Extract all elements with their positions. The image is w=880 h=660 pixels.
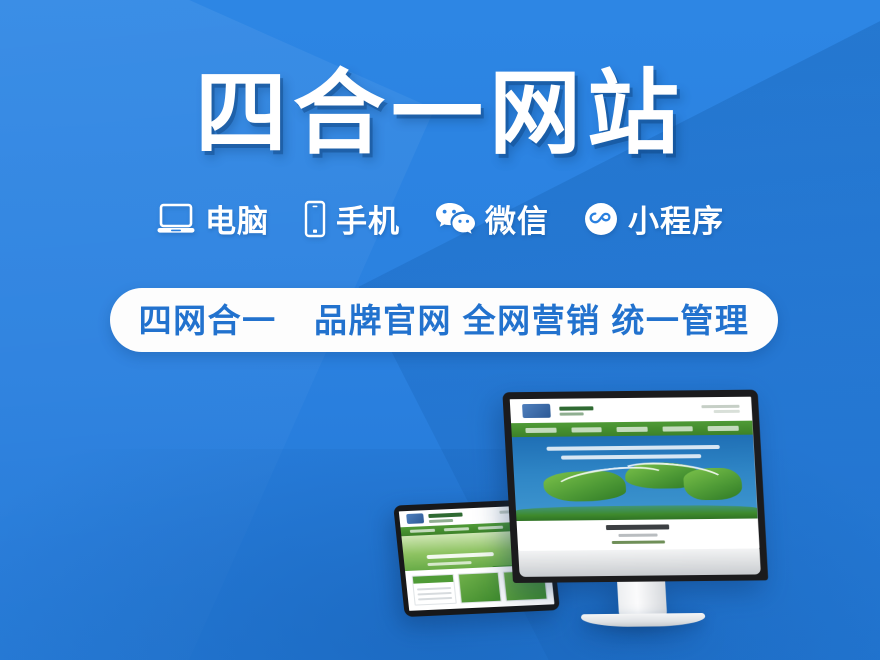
mini-program-icon — [583, 201, 619, 242]
tablet-card — [457, 572, 502, 604]
wechat-icon — [434, 201, 476, 242]
tablet-site-logo — [406, 514, 424, 524]
feature-label-wechat: 微信 — [485, 206, 549, 237]
desktop-monitor — [502, 390, 768, 583]
monitor-stand-neck — [617, 581, 667, 617]
feature-item-wechat[interactable]: 微信 — [434, 201, 549, 242]
laptop-icon — [156, 202, 196, 241]
monitor-stand-base — [580, 613, 705, 627]
slogan-pill: 四网合一 品牌官网 全网营销 统一管理 — [110, 288, 778, 352]
site-logo — [522, 404, 551, 418]
feature-list: 电脑 手机 — [0, 200, 880, 243]
tablet-card — [412, 574, 457, 606]
mobile-phone-icon — [303, 200, 327, 243]
site-header-links — [701, 405, 739, 413]
feature-item-miniprogram[interactable]: 小程序 — [583, 201, 724, 242]
tablet-site-logo-text — [429, 512, 464, 522]
monitor-website-preview — [510, 397, 760, 551]
site-hero-worldmap — [512, 435, 758, 521]
site-body-content — [517, 518, 760, 551]
monitor-bezel — [502, 390, 768, 583]
feature-item-computer[interactable]: 电脑 — [156, 202, 269, 241]
feature-label-computer: 电脑 — [205, 206, 269, 237]
site-logo-text — [559, 406, 594, 415]
monitor-screen — [510, 397, 760, 551]
promo-banner: 四合一网站 电脑 手机 — [0, 0, 880, 660]
feature-item-mobile[interactable]: 手机 — [303, 200, 400, 243]
monitor-chin — [518, 548, 761, 576]
feature-label-mobile: 手机 — [336, 206, 400, 237]
slogan-part-1: 四网合一 — [139, 302, 277, 339]
device-mockup-group — [395, 380, 775, 660]
banner-title: 四合一网站 — [0, 66, 880, 163]
site-header — [510, 397, 753, 424]
feature-label-miniprogram: 小程序 — [628, 206, 724, 237]
slogan-text: 四网合一 品牌官网 全网营销 统一管理 — [139, 304, 750, 337]
slogan-part-2: 品牌官网 全网营销 统一管理 — [314, 302, 749, 339]
